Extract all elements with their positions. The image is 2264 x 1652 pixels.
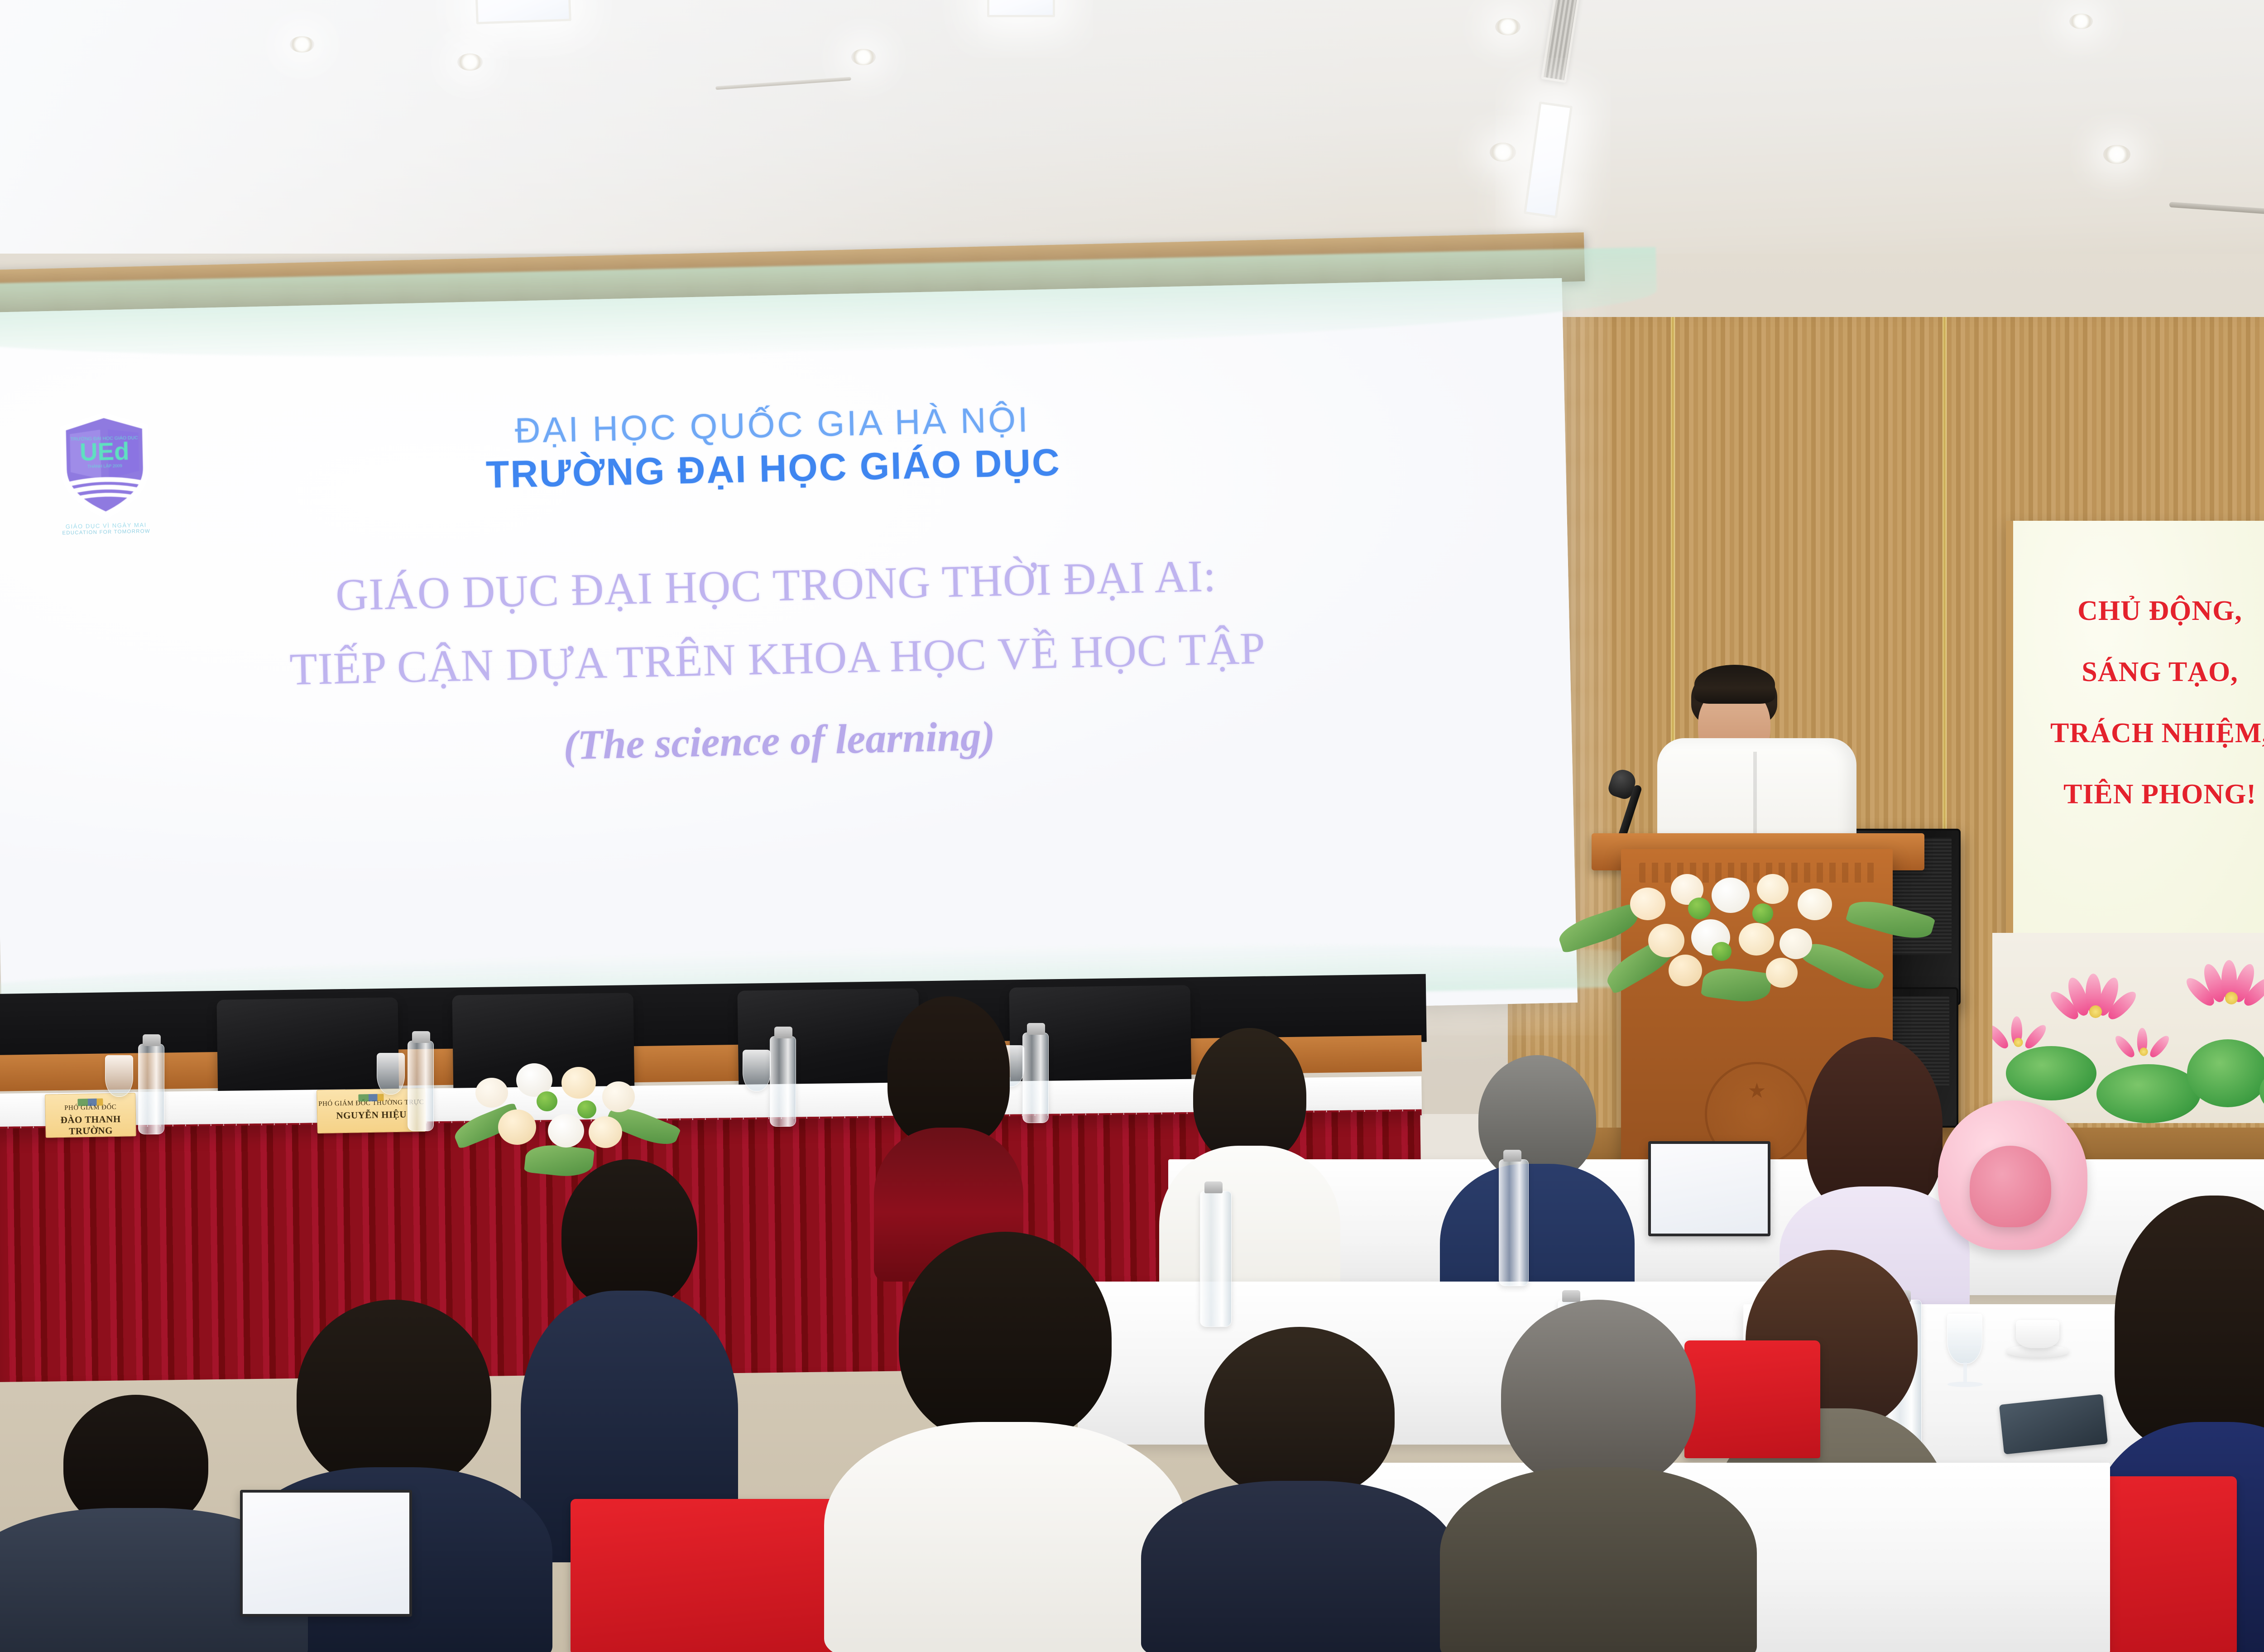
audience-person <box>521 1159 738 1558</box>
panel-light-icon <box>475 0 571 24</box>
slogan-line-4: TIÊN PHONG! <box>2013 764 2264 825</box>
water-bottle <box>770 1036 796 1127</box>
person-hair <box>1193 1028 1306 1164</box>
slogan-line-2: SÁNG TẠO, <box>2013 642 2264 703</box>
person-hair <box>2115 1196 2264 1449</box>
bottle-cap <box>143 1034 161 1046</box>
speaker-hair-top <box>1694 665 1775 704</box>
person-hair <box>1478 1055 1596 1182</box>
person-hair <box>887 996 1010 1146</box>
audience-person <box>1440 1300 1757 1652</box>
nameplate: PHÓ GIÁM ĐỐC ĐÀO THANH TRƯỜNG <box>45 1093 136 1138</box>
slogan-line-3: TRÁCH NHIỆM, <box>2013 703 2264 764</box>
water-bottle <box>1499 1159 1529 1286</box>
person-hair <box>899 1232 1112 1445</box>
panel-light-icon <box>987 0 1055 17</box>
downlight-icon <box>457 53 483 71</box>
stemmed-glass <box>1947 1313 1982 1364</box>
water-bottle <box>1200 1191 1232 1327</box>
water-bottle <box>138 1044 164 1134</box>
audience-person <box>824 1232 1186 1652</box>
audience-person <box>1141 1327 1458 1652</box>
svg-text:THÀNH LẬP 2009: THÀNH LẬP 2009 <box>87 464 122 470</box>
person-hair <box>297 1300 491 1490</box>
water-glass <box>105 1055 133 1097</box>
ued-shield-logo: UEd TRƯỜNG ĐẠI HỌC GIÁO DỤC THÀNH LẬP 20… <box>56 409 154 522</box>
person-hair <box>1204 1327 1395 1499</box>
person-torso <box>824 1422 1186 1652</box>
glass-stem <box>1963 1363 1967 1383</box>
glass-foot <box>1947 1382 1983 1387</box>
slogan-line-1: CHỦ ĐỘNG, <box>2013 581 2264 642</box>
person-hair <box>1501 1300 1696 1490</box>
downlight-icon <box>1490 143 1516 162</box>
water-glass <box>377 1053 405 1095</box>
bottle-cap <box>1027 1023 1045 1035</box>
slide-title: GIÁO DỤC ĐẠI HỌC TRONG THỜI ĐẠI AI: TIẾP… <box>19 533 1534 712</box>
person-torso <box>1141 1481 1458 1652</box>
lotus-mural <box>1992 933 2264 1123</box>
presidium-chair <box>216 997 399 1104</box>
podium-flower-arrangement <box>1576 856 1911 1005</box>
downlight-icon <box>1495 18 1521 35</box>
lotus-leaf <box>2187 1039 2264 1107</box>
laptop <box>240 1490 412 1617</box>
nameplate-name: ĐÀO THANH TRƯỜNG <box>46 1113 136 1137</box>
slide-header: ĐẠI HỌC QUỐC GIA HÀ NỘI TRƯỜNG ĐẠI HỌC G… <box>206 392 1340 504</box>
bottle-cap <box>1204 1181 1223 1193</box>
slide-subtitle: (The science of learning) <box>23 700 1536 781</box>
slide-surface: UEd TRƯỜNG ĐẠI HỌC GIÁO DỤC THÀNH LẬP 20… <box>0 278 1578 1037</box>
person-torso <box>1440 1467 1757 1652</box>
downlight-icon <box>851 49 876 65</box>
bottle-cap <box>1503 1150 1521 1162</box>
projection-screen: UEd TRƯỜNG ĐẠI HỌC GIÁO DỤC THÀNH LẬP 20… <box>0 278 1578 1037</box>
water-bottle <box>408 1041 434 1131</box>
laptop <box>1648 1141 1770 1236</box>
star-icon: ★ <box>1747 1080 1766 1101</box>
lotus-leaf <box>2096 1064 2201 1123</box>
downlight-icon <box>2069 14 2093 29</box>
vnu-logo-icon <box>77 1099 103 1106</box>
downlight-icon <box>2103 145 2130 164</box>
water-bottle <box>1022 1032 1049 1123</box>
lotus-leaf <box>2006 1046 2096 1100</box>
bottle-cap <box>412 1031 430 1043</box>
conference-hall-scene: CHỦ ĐỘNG, SÁNG TẠO, TRÁCH NHIỆM, TIÊN PH… <box>0 0 2264 1652</box>
slogan-text: CHỦ ĐỘNG, SÁNG TẠO, TRÁCH NHIỆM, TIÊN PH… <box>2013 581 2264 826</box>
coffee-cup <box>2016 1320 2059 1348</box>
ued-logo-tagline: GIÁO DỤC VÌ NGÀY MAI EDUCATION FOR TOMOR… <box>44 521 168 537</box>
downlight-icon <box>290 36 314 53</box>
bottle-cap <box>774 1027 792 1038</box>
audience-chair <box>571 1499 842 1652</box>
wrapped-gift-bouquet-inner <box>1970 1146 2051 1227</box>
person-hair <box>561 1159 697 1309</box>
vnu-logo-icon <box>358 1094 384 1102</box>
water-glass <box>743 1050 771 1091</box>
